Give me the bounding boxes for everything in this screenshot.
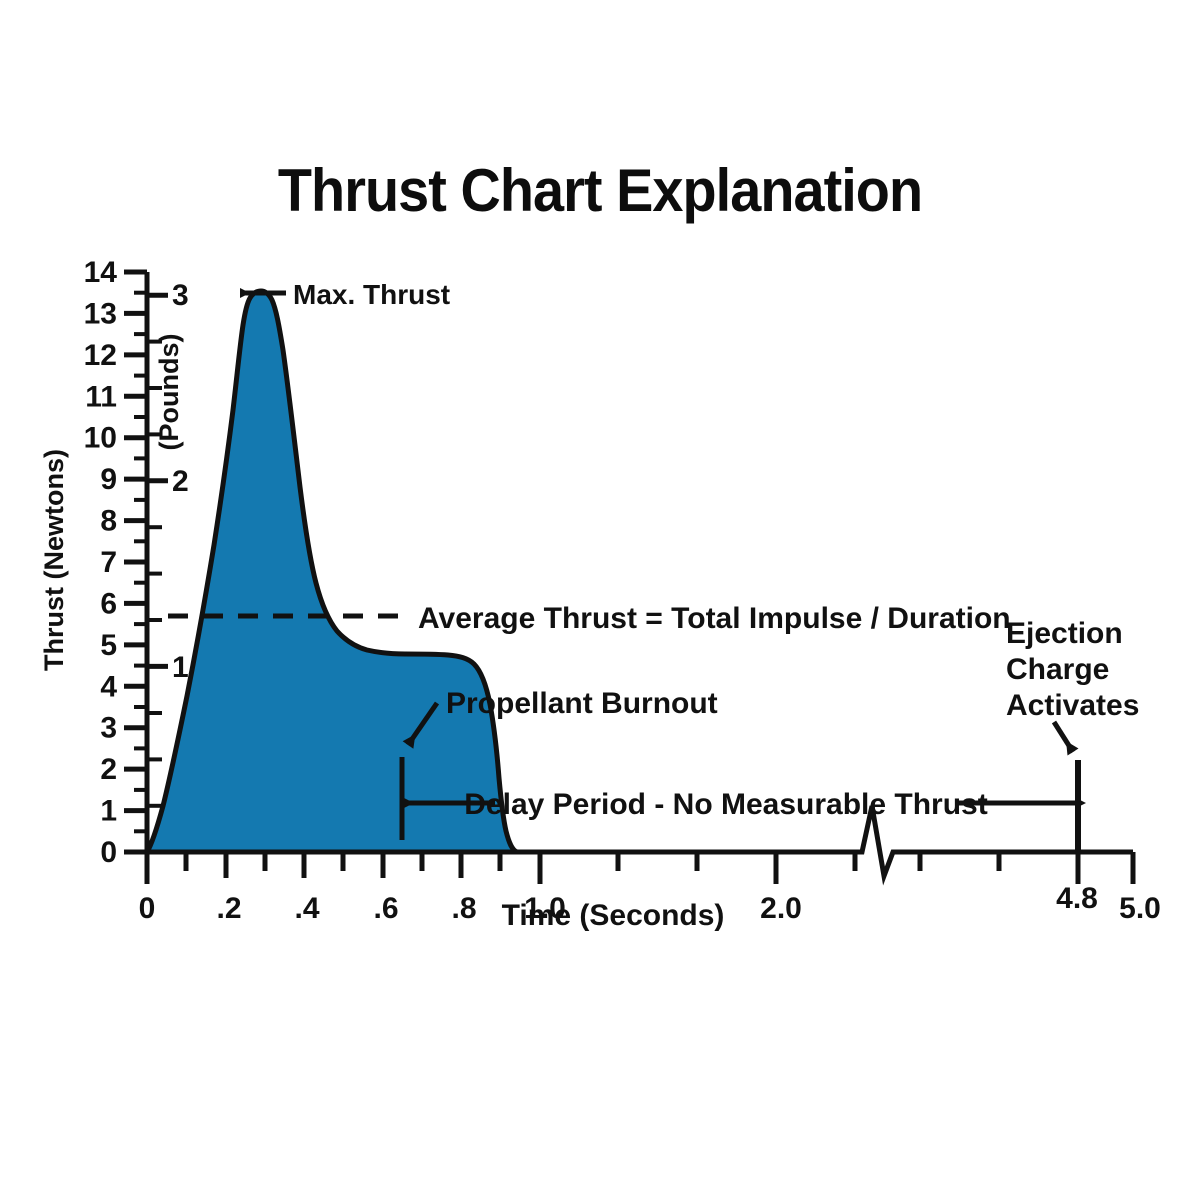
y-tick-label: 2 <box>100 753 117 786</box>
ejection-charge-label-line1: Ejection <box>1006 617 1123 650</box>
y-tick-label: 1 <box>100 795 117 828</box>
y-tick-label: 12 <box>84 339 117 372</box>
x-axis-title: Time (Seconds) <box>502 899 725 932</box>
y-axis-title-newtons: Thrust (Newtons) <box>39 449 69 671</box>
y-tick-label: 11 <box>85 380 117 413</box>
x-tick-label: 4.8 <box>1056 882 1098 915</box>
y-tick-label-pounds: 3 <box>172 279 189 312</box>
y-tick-label: 7 <box>100 546 117 579</box>
max-thrust-label: Max. Thrust <box>293 279 450 310</box>
x-axis-major-ticks <box>147 852 1133 884</box>
thrust-chart-figure: 0 1 2 3 4 5 6 7 8 9 10 11 12 13 14 <box>0 0 1200 1200</box>
x-axis-minor-ticks <box>186 852 999 871</box>
y-tick-label: 0 <box>100 836 117 869</box>
x-tick-label: 5.0 <box>1119 892 1161 925</box>
x-tick-label: .6 <box>373 892 398 925</box>
x-tick-label: 0 <box>139 892 156 925</box>
delay-period-label: Delay Period - No Measurable Thrust <box>464 788 987 821</box>
y-tick-label: 8 <box>100 505 117 538</box>
y-tick-label-pounds: 2 <box>172 465 189 498</box>
x-tick-label: .2 <box>216 892 241 925</box>
x-tick-label: 2.0 <box>760 892 802 925</box>
x-tick-label: .8 <box>451 892 476 925</box>
propellant-burnout-label: Propellant Burnout <box>446 687 718 720</box>
y-axis-newtons-tick-labels: 0 1 2 3 4 5 6 7 8 9 10 11 12 13 14 <box>84 256 118 869</box>
y-tick-label: 4 <box>100 670 117 703</box>
average-thrust-label: Average Thrust = Total Impulse / Duratio… <box>418 602 1011 635</box>
y-tick-label: 10 <box>84 422 117 455</box>
y-tick-label: 3 <box>100 712 117 745</box>
y-tick-label-pounds: 1 <box>172 651 189 684</box>
y-tick-label: 5 <box>100 629 117 662</box>
thrust-curve-group <box>147 291 517 852</box>
ejection-charge-label-line3: Activates <box>1006 689 1139 722</box>
ejection-charge-arrow <box>1054 722 1073 752</box>
x-tick-label: .4 <box>294 892 319 925</box>
y-axis-title-pounds: (Pounds) <box>154 334 184 451</box>
thrust-chart-page: Thrust Chart Explanation <box>0 0 1200 1200</box>
y-tick-label: 9 <box>100 463 117 496</box>
y-tick-label: 13 <box>84 297 117 330</box>
y-axis-newtons-major-ticks <box>124 272 147 852</box>
y-tick-label: 6 <box>100 587 117 620</box>
ejection-charge-label-line2: Charge <box>1006 653 1109 686</box>
y-tick-label: 14 <box>84 256 118 289</box>
thrust-curve-fill <box>147 291 517 852</box>
